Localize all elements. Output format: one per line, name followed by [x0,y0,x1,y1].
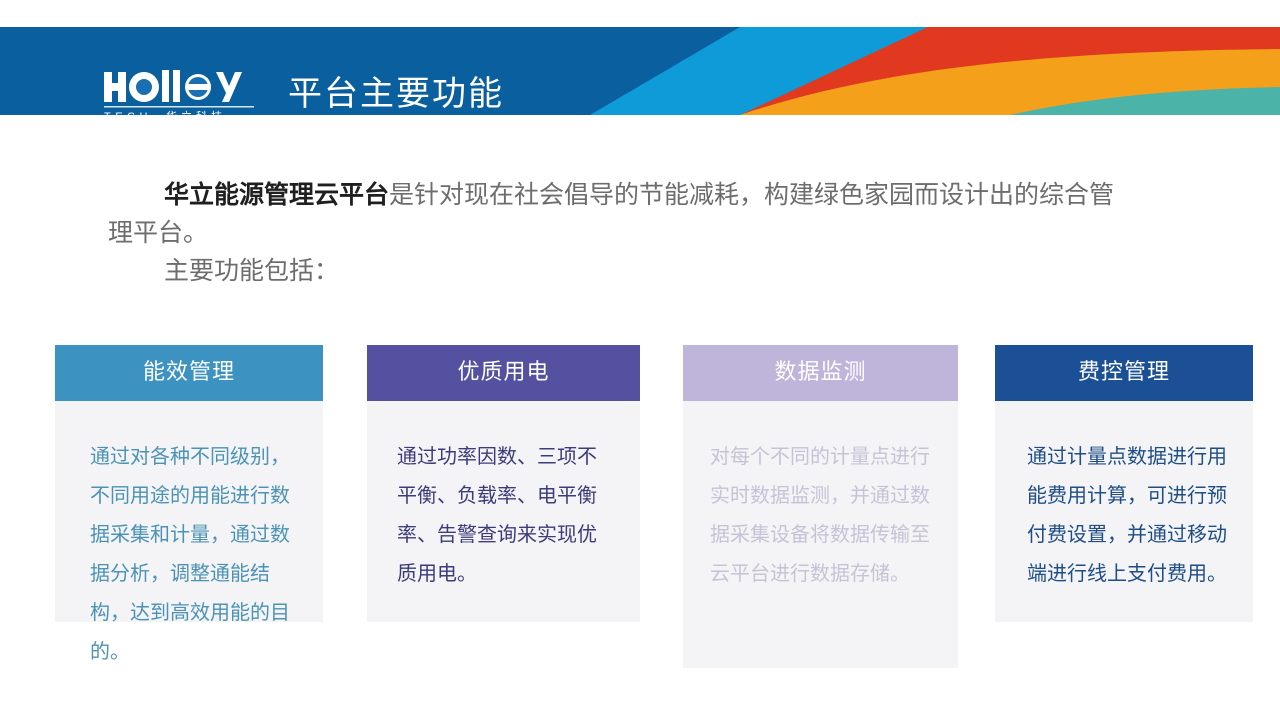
card-title-energy-efficiency: 能效管理 [55,345,323,401]
intro-line-2: 主要功能包括： [108,252,1118,290]
svg-text:华立科技: 华立科技 [166,109,226,115]
intro-line-1: 华立能源管理云平台是针对现在社会倡导的节能减耗，构建绿色家园而设计出的综合管理平… [108,176,1118,252]
card-description-data-monitoring: 对每个不同的计量点进行实时数据监测，并通过数据采集设备将数据传输至云平台进行数据… [710,437,930,593]
page-title: 平台主要功能 [288,71,504,115]
svg-text:TECH: TECH [104,111,152,115]
feature-card-quality-power[interactable]: 优质用电 通过功率因数、三项不平衡、负载率、电平衡率、告警查询来实现优质用电。 [367,345,640,675]
card-description-quality-power: 通过功率因数、三项不平衡、负载率、电平衡率、告警查询来实现优质用电。 [397,437,609,593]
card-description-energy-efficiency: 通过对各种不同级别，不同用途的用能进行数据采集和计量，通过数据分析，调整通能结构… [90,437,295,671]
feature-card-energy-efficiency[interactable]: 能效管理 通过对各种不同级别，不同用途的用能进行数据采集和计量，通过数据分析，调… [55,345,323,675]
intro-paragraph: 华立能源管理云平台是针对现在社会倡导的节能减耗，构建绿色家园而设计出的综合管理平… [108,176,1118,290]
feature-card-fee-control[interactable]: 费控管理 通过计量点数据进行用能费用计算，可进行预付费设置，并通过移动端进行线上… [995,345,1253,675]
card-title-quality-power: 优质用电 [367,345,640,401]
feature-card-data-monitoring[interactable]: 数据监测 对每个不同的计量点进行实时数据监测，并通过数据采集设备将数据传输至云平… [683,345,958,675]
page-banner: TECH 华立科技 平台主要功能 [0,27,1280,115]
card-title-fee-control: 费控管理 [995,345,1253,401]
card-description-fee-control: 通过计量点数据进行用能费用计算，可进行预付费设置，并通过移动端进行线上支付费用。 [1027,437,1229,593]
product-name: 华立能源管理云平台 [164,180,389,209]
holley-tech-logo: TECH 华立科技 [104,68,262,115]
card-title-data-monitoring: 数据监测 [683,345,958,401]
